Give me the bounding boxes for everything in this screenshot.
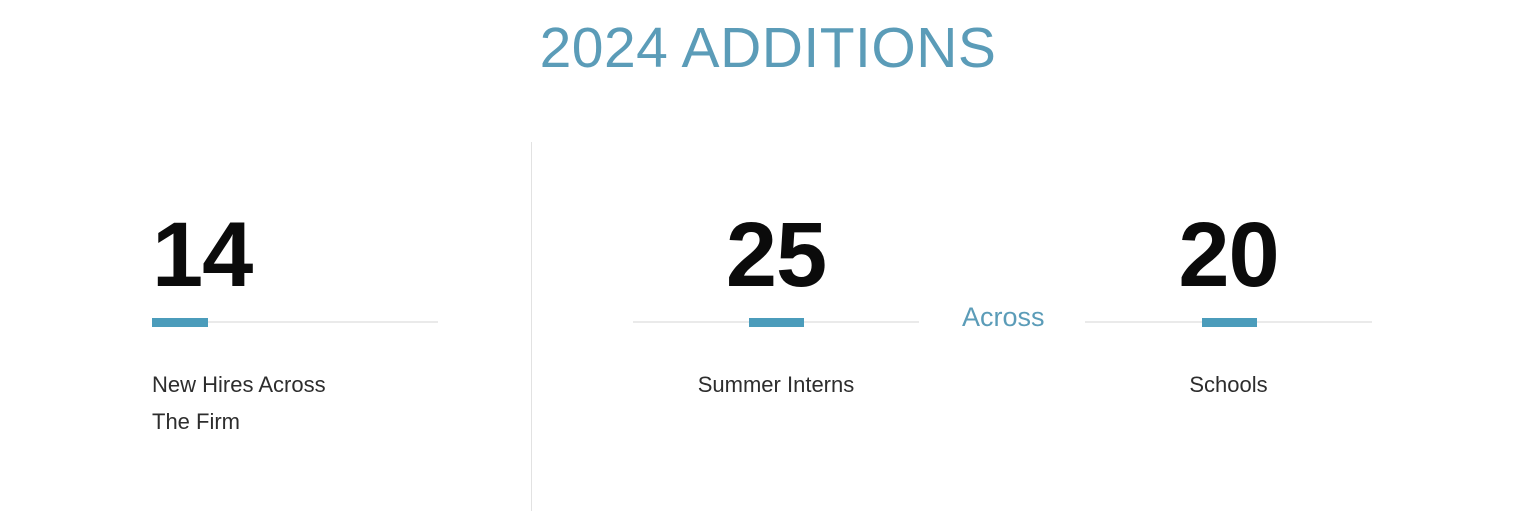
connector-label-across: Across	[962, 302, 1045, 332]
stat-value-new-hires: 14	[152, 209, 438, 301]
stat-rule-fill	[152, 318, 208, 327]
stat-rule-new-hires	[152, 315, 438, 329]
vertical-divider	[531, 142, 532, 511]
stat-block-schools: 20 Schools	[1085, 209, 1372, 403]
stat-label-summer-interns: Summer Interns	[633, 366, 919, 403]
stat-block-new-hires: 14 New Hires Across The Firm	[152, 209, 438, 440]
stat-value-summer-interns: 25	[633, 209, 919, 301]
stat-label-new-hires: New Hires Across The Firm	[152, 366, 438, 440]
stat-rule-schools	[1085, 315, 1372, 329]
stat-rule-summer-interns	[633, 315, 919, 329]
page-title: 2024 ADDITIONS	[0, 14, 1536, 82]
stat-value-schools: 20	[1085, 209, 1372, 301]
stat-rule-fill	[749, 318, 804, 327]
stat-rule-fill	[1202, 318, 1257, 327]
stat-block-summer-interns: 25 Summer Interns	[633, 209, 919, 403]
stat-label-schools: Schools	[1085, 366, 1372, 403]
